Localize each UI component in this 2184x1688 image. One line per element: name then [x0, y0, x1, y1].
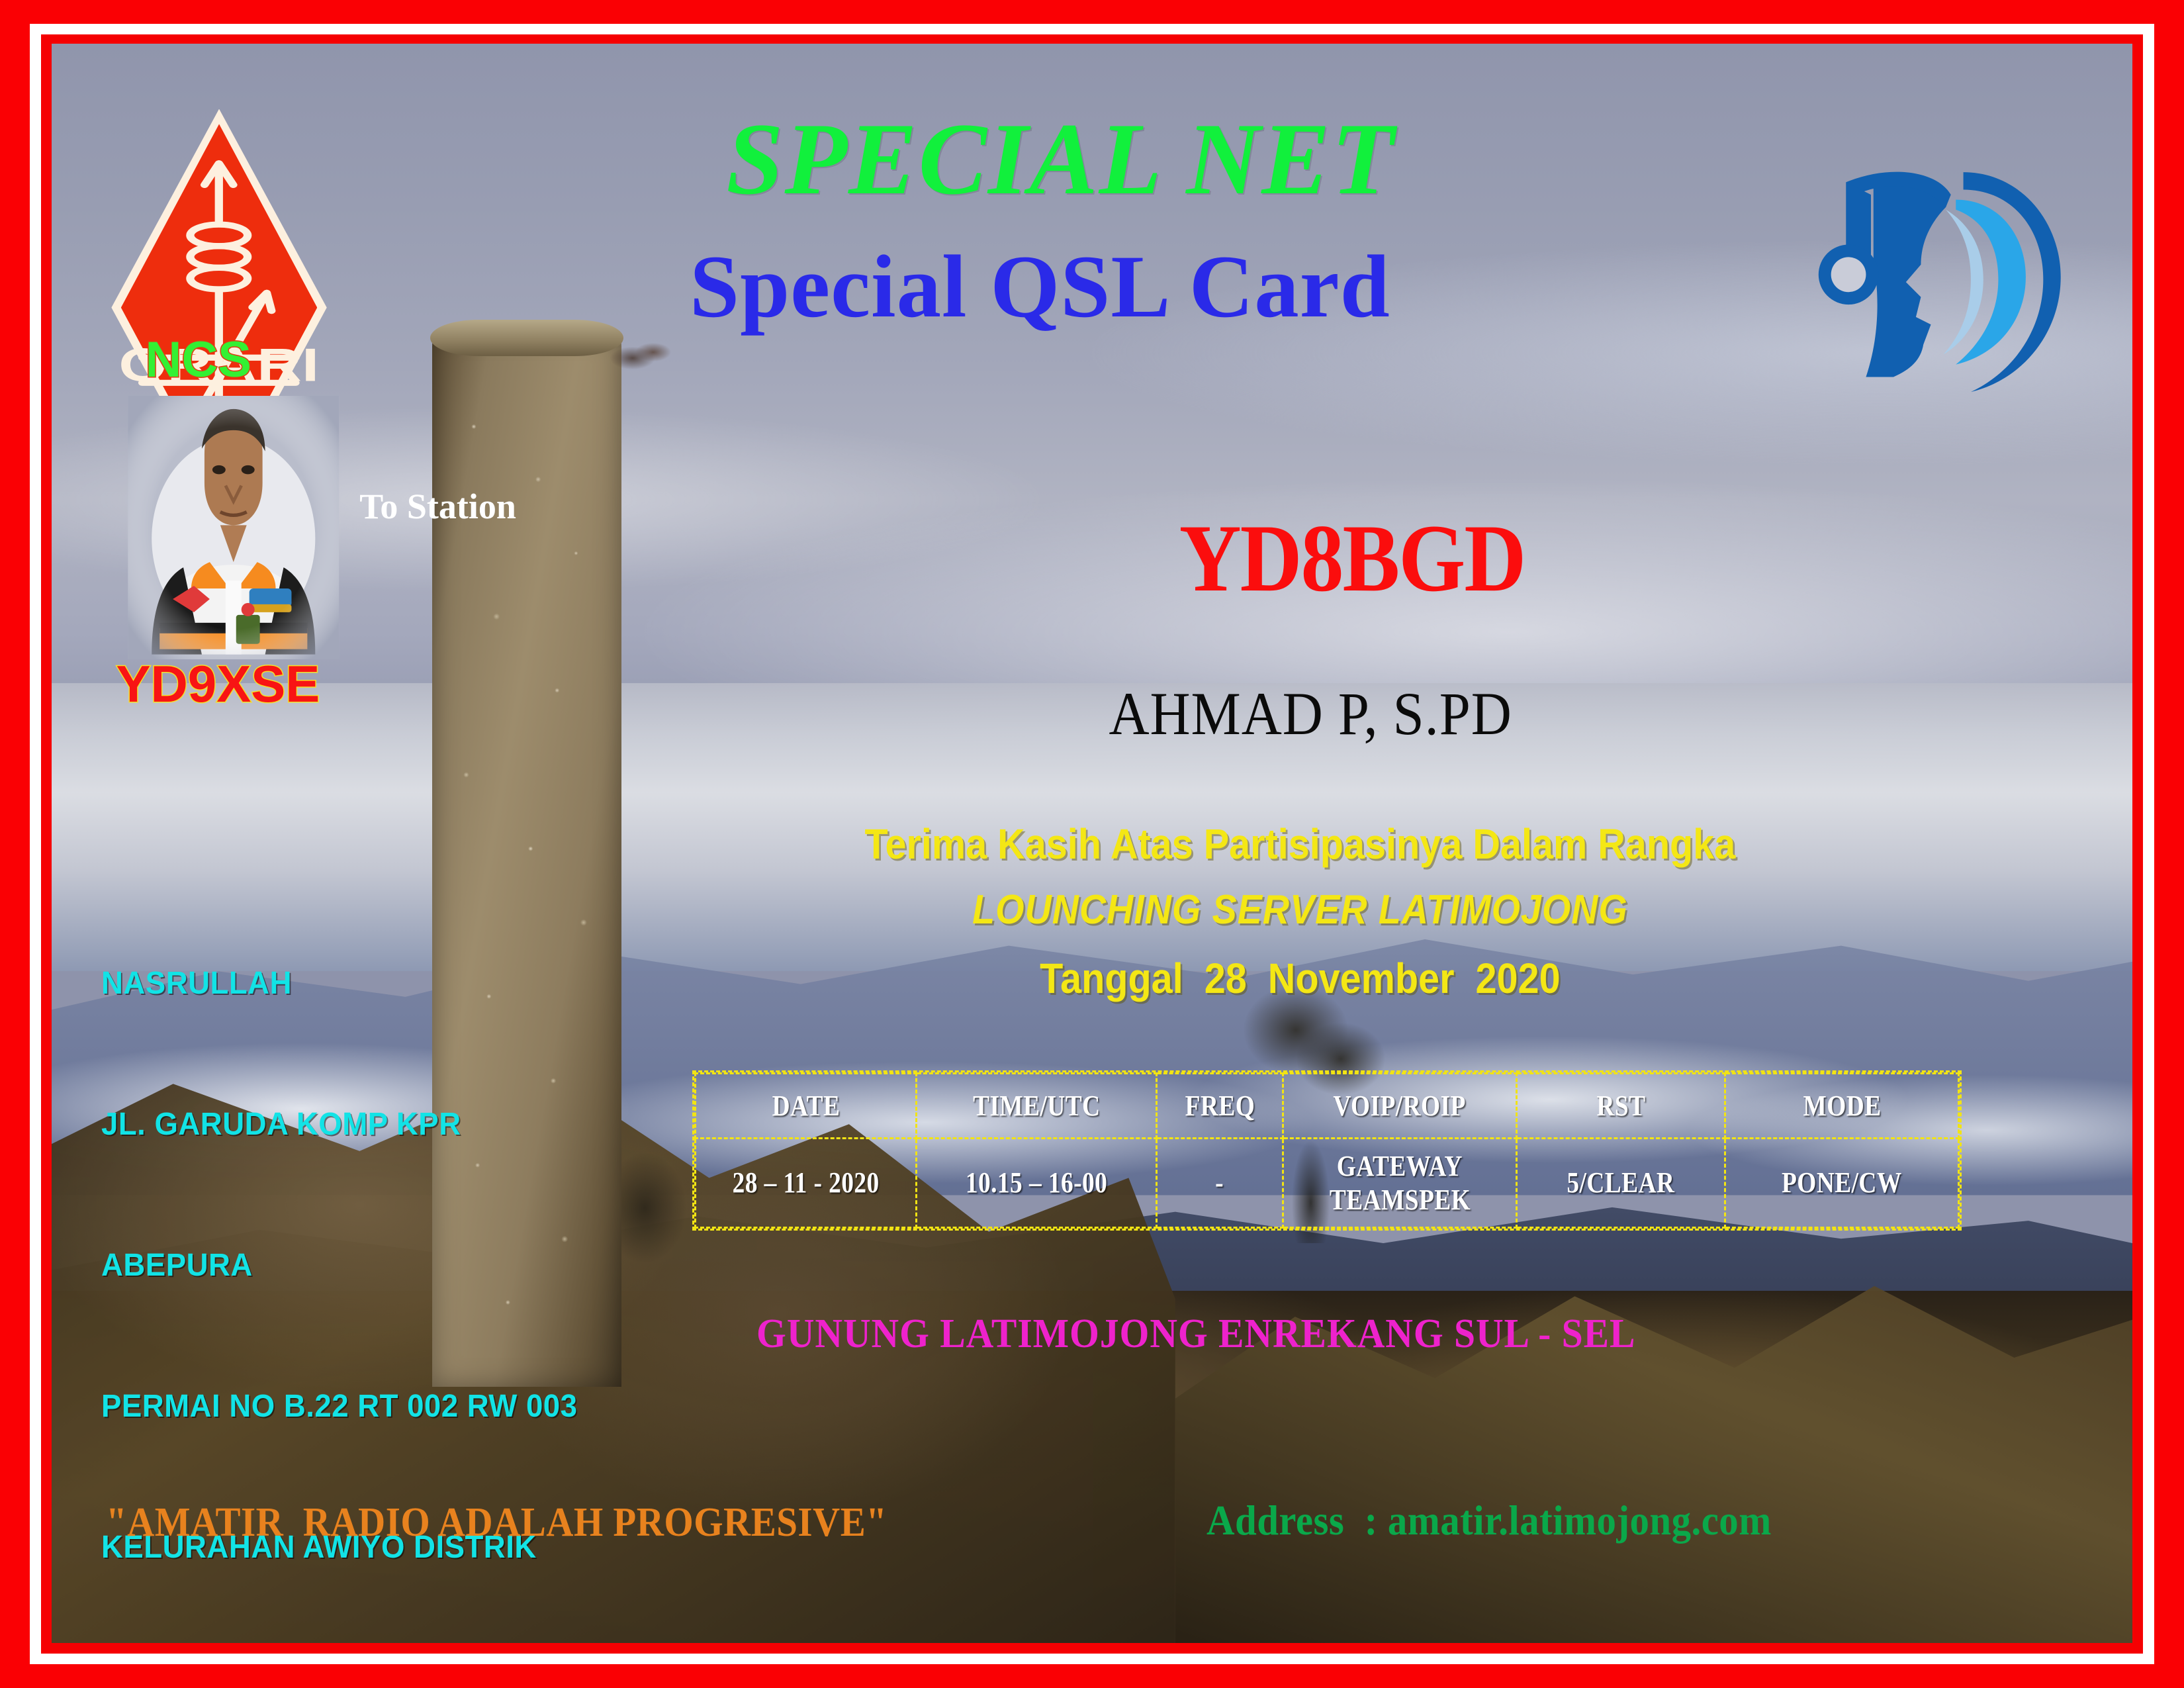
- cell-voip-line1: GATEWAY: [1337, 1149, 1463, 1183]
- ncs-callsign: YD9XSE: [116, 658, 320, 710]
- card-photo-area: ORARI: [52, 44, 2132, 1643]
- cell-freq-value: -: [1216, 1166, 1224, 1199]
- cell-mode: PONE/CW: [1725, 1138, 1959, 1227]
- qsl-card: ORARI: [0, 0, 2184, 1688]
- cell-date-value: 28 – 11 - 2020: [733, 1166, 880, 1199]
- page-subtitle: Special QSL Card: [52, 242, 2080, 332]
- address-line: NASRULLAH: [101, 960, 577, 1007]
- operator-name: AHMAD P, S.PD: [353, 683, 2132, 744]
- pillar-debris: [607, 321, 671, 395]
- thanks-line-1: Terima Kasih Atas Partisipasinya Dalam R…: [364, 820, 2132, 868]
- column-header-mode: MODE: [1743, 1074, 1941, 1139]
- column-header-rst: RST: [1532, 1074, 1709, 1139]
- cell-voip: GATEWAY TEAMSPEK: [1283, 1138, 1516, 1227]
- address-line: JL. GARUDA KOMP KPR: [101, 1101, 577, 1148]
- web-address: Address : amatir.latimojong.com: [1206, 1499, 1772, 1542]
- thanks-line-3: Tanggal 28 November 2020: [364, 954, 2132, 1003]
- address-line: PERMAI NO B.22 RT 002 RW 003: [101, 1383, 577, 1430]
- column-header-freq: FREQ: [1166, 1074, 1273, 1139]
- station-callsign: YD8BGD: [312, 510, 2132, 607]
- cell-rst: 5/CLEAR: [1517, 1138, 1725, 1227]
- table-header-row: DATE TIME/UTC FREQ VOIP/ROIP RST MODE: [696, 1074, 1959, 1139]
- address-line: ABEPURA: [101, 1242, 577, 1289]
- table-row: 28 – 11 - 2020 10.15 – 16-00 - GATEWAY T…: [696, 1138, 1959, 1227]
- ncs-label: NCS: [145, 335, 251, 385]
- location-line: GUNUNG LATIMOJONG ENREKANG SUL - SEL: [228, 1313, 2132, 1354]
- thanks-line-2: LOUNCHING SERVER LATIMOJONG: [364, 886, 2132, 933]
- qso-log-table: DATE TIME/UTC FREQ VOIP/ROIP RST MODE 28…: [692, 1070, 1962, 1231]
- cell-freq: -: [1157, 1138, 1283, 1227]
- page-title: SPECIAL NET: [52, 108, 2101, 211]
- cell-rst-value: 5/CLEAR: [1567, 1166, 1675, 1199]
- cell-mode-value: PONE/CW: [1782, 1166, 1902, 1199]
- cell-date: 28 – 11 - 2020: [696, 1138, 917, 1227]
- cell-time-value: 10.15 – 16-00: [966, 1166, 1107, 1199]
- column-header-voip-roip: VOIP/ROIP: [1300, 1074, 1499, 1139]
- column-header-time: TIME/UTC: [934, 1074, 1138, 1139]
- motto-text: "AMATIR RADIO ADALAH PROGRESIVE": [106, 1502, 887, 1543]
- cell-voip-line2: TEAMSPEK: [1329, 1183, 1470, 1217]
- cell-time: 10.15 – 16-00: [917, 1138, 1157, 1227]
- column-header-date: DATE: [712, 1074, 900, 1139]
